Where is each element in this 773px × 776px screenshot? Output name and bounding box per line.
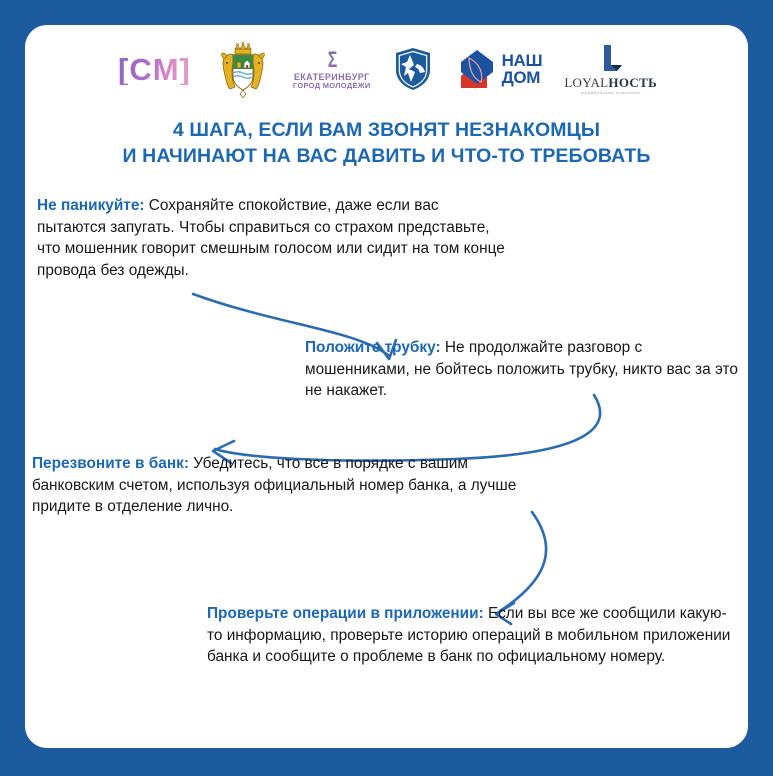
shield-icon [393, 46, 433, 92]
loyalnost-word-light: LOYAL [564, 75, 608, 90]
step-item-1: Не паникуйте: Сохраняйте спокойствие, да… [37, 195, 507, 281]
loyalnost-subtitle: юридическая компания [581, 91, 640, 95]
nash-dom-house-icon [455, 46, 497, 92]
ekaterinburg-sigma-mark: Σ [327, 48, 336, 71]
cm-logo: [CM] [116, 54, 193, 85]
step-item-4: Проверьте операции в приложении: Если вы… [207, 603, 737, 668]
step-2-label: Положите трубку: [305, 339, 441, 356]
loyalnost-l-icon [596, 43, 626, 73]
shield-logo [393, 46, 433, 92]
nash-dom-logo: НАШ ДОМ [455, 46, 543, 92]
step-3-label: Перезвоните в банк: [32, 455, 189, 472]
nash-dom-line-2: ДОМ [502, 69, 543, 86]
loyalnost-wordmark: LOYALНОСТЬ [564, 76, 657, 89]
page-title-line-2: И НАЧИНАЮТ НА ВАС ДАВИТЬ И ЧТО-ТО ТРЕБОВ… [25, 144, 748, 170]
step-4-label: Проверьте операции в приложении: [207, 605, 484, 622]
ekaterinburg-line-2: ГОРОД МОЛОДЁЖИ [293, 82, 371, 90]
loyalnost-word-bold: НОСТЬ [608, 75, 657, 90]
ekaterinburg-city-logo: Σ ЕКАТЕРИНБУРГ ГОРОД МОЛОДЁЖИ [293, 48, 371, 90]
ekaterinburg-coat-of-arms [215, 40, 271, 98]
poster-card: [CM] [25, 25, 748, 748]
step-1-label: Не паникуйте: [37, 197, 145, 214]
step-item-2: Положите трубку: Не продолжайте разговор… [305, 337, 745, 402]
loyalnost-logo: LOYALНОСТЬ юридическая компания [564, 43, 657, 95]
coat-of-arms-icon [215, 40, 271, 98]
step-item-3: Перезвоните в банк: Убедитесь, что все в… [32, 453, 542, 518]
page-title: 4 ШАГА, ЕСЛИ ВАМ ЗВОНЯТ НЕЗНАКОМЦЫ И НАЧ… [25, 118, 748, 169]
page-title-line-1: 4 ШАГА, ЕСЛИ ВАМ ЗВОНЯТ НЕЗНАКОМЦЫ [25, 118, 748, 144]
logo-strip: [CM] [25, 33, 748, 105]
nash-dom-line-1: НАШ [502, 52, 543, 69]
cm-logo-text: [CM] [116, 54, 193, 85]
poster-root: [CM] [0, 0, 773, 776]
